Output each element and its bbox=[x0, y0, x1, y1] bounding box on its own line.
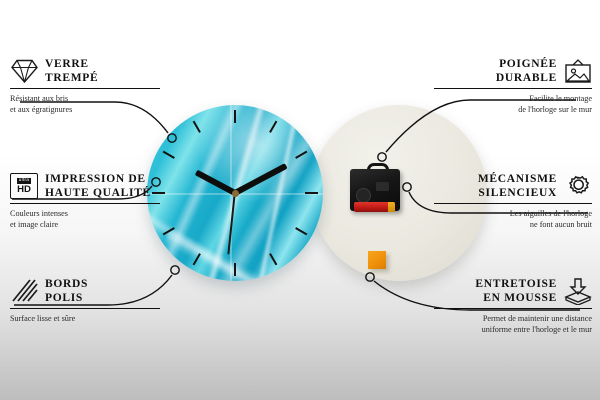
battery bbox=[354, 202, 395, 212]
gear-icon bbox=[564, 172, 592, 200]
feature-header: ultra HD IMPRESSION DE HAUTE QUALITÉ bbox=[10, 172, 160, 200]
hour-tick bbox=[234, 110, 236, 123]
feature-title: POIGNÉE DURABLE bbox=[496, 57, 557, 85]
hour-tick bbox=[269, 121, 277, 133]
hour-tick bbox=[234, 263, 236, 276]
hour-tick bbox=[269, 253, 277, 265]
hd-badge-top-label: ultra bbox=[17, 178, 31, 184]
clock-front-view bbox=[147, 105, 323, 281]
feature-bords-polis: BORDS POLIS Surface lisse et sûre bbox=[10, 277, 160, 324]
feature-title: MÉCANISME SILENCIEUX bbox=[478, 172, 557, 200]
hour-tick bbox=[193, 121, 201, 133]
feature-subtitle: Surface lisse et sûre bbox=[10, 313, 160, 324]
feature-divider bbox=[10, 203, 160, 204]
clock-mechanism bbox=[350, 163, 400, 211]
foam-spacer-icon bbox=[564, 277, 592, 305]
mechanism-dial bbox=[356, 188, 371, 203]
feature-subtitle: Permet de maintenir une distance uniform… bbox=[434, 313, 592, 335]
hand-center-cap bbox=[232, 190, 239, 197]
foam-spacer bbox=[368, 251, 386, 269]
hd-badge-main-label: HD bbox=[17, 185, 31, 195]
feature-subtitle: Les aiguilles de l'horloge ne font aucun… bbox=[434, 208, 592, 230]
ultra-hd-badge-icon: ultra HD bbox=[10, 172, 38, 200]
feature-impression-haute-qualite: ultra HD IMPRESSION DE HAUTE QUALITÉ Cou… bbox=[10, 172, 160, 231]
hd-badge: ultra HD bbox=[10, 173, 38, 199]
feature-subtitle: Couleurs intenses et image claire bbox=[10, 208, 160, 230]
hour-tick bbox=[295, 227, 307, 235]
feature-divider bbox=[10, 308, 160, 309]
feature-title: IMPRESSION DE HAUTE QUALITÉ bbox=[45, 172, 151, 200]
mechanism-body bbox=[350, 169, 400, 211]
polished-edges-icon bbox=[10, 277, 38, 305]
battery-cap bbox=[388, 202, 395, 212]
mechanism-slot bbox=[376, 182, 389, 191]
feature-verre-trempe: VERRE TREMPÉ Résistant aux bris et aux é… bbox=[10, 57, 160, 116]
feature-header: POIGNÉE DURABLE bbox=[434, 57, 592, 85]
feature-title: VERRE TREMPÉ bbox=[45, 57, 98, 85]
feature-entretoise-en-mousse: ENTRETOISE EN MOUSSE Permet de maintenir… bbox=[434, 277, 592, 336]
feature-divider bbox=[434, 308, 592, 309]
feature-title: ENTRETOISE EN MOUSSE bbox=[475, 277, 557, 305]
feature-divider bbox=[434, 203, 592, 204]
feature-header: MÉCANISME SILENCIEUX bbox=[434, 172, 592, 200]
feature-header: VERRE TREMPÉ bbox=[10, 57, 160, 85]
feature-subtitle: Résistant aux bris et aux égratignures bbox=[10, 93, 160, 115]
infographic-canvas: VERRE TREMPÉ Résistant aux bris et aux é… bbox=[0, 0, 600, 400]
hour-tick bbox=[305, 192, 318, 194]
wall-hanger-icon bbox=[564, 57, 592, 85]
feature-header: BORDS POLIS bbox=[10, 277, 160, 305]
feature-title: BORDS POLIS bbox=[45, 277, 88, 305]
feature-subtitle: Facilite le montage de l'horloge sur le … bbox=[434, 93, 592, 115]
feature-poignee-durable: POIGNÉE DURABLE Facilite le montage de l… bbox=[434, 57, 592, 116]
feature-divider bbox=[10, 88, 160, 89]
feature-header: ENTRETOISE EN MOUSSE bbox=[434, 277, 592, 305]
diamond-icon bbox=[10, 57, 38, 85]
feature-mecanisme-silencieux: MÉCANISME SILENCIEUX Les aiguilles de l'… bbox=[434, 172, 592, 231]
hour-tick bbox=[163, 151, 175, 159]
feature-divider bbox=[434, 88, 592, 89]
